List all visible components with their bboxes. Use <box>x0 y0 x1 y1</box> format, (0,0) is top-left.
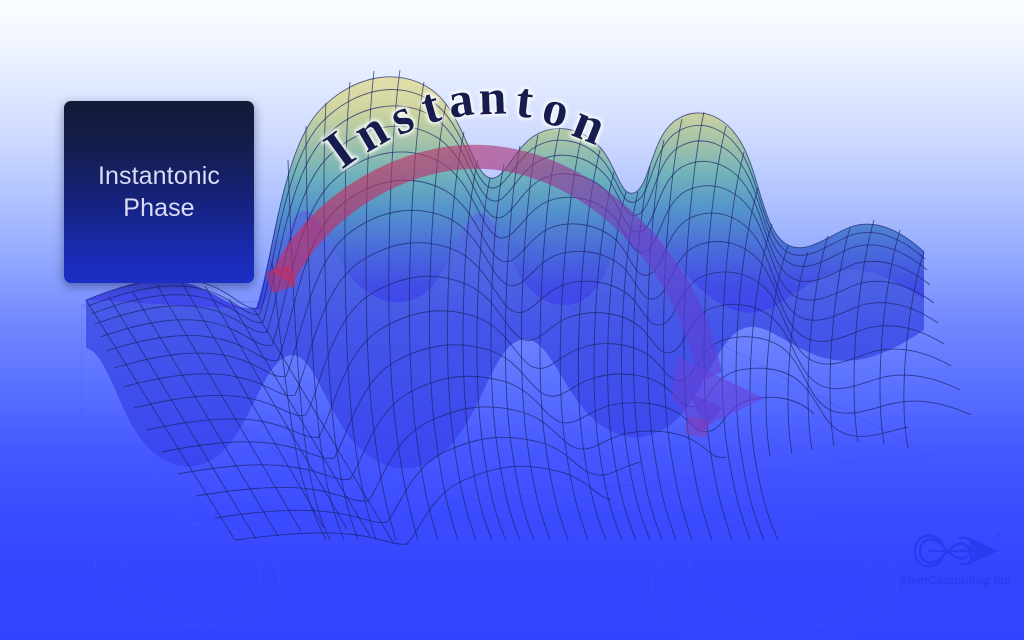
instantonic-phase-card: Instantonic Phase <box>64 101 254 283</box>
memcomputing-logo-text: MemComputing Inc <box>900 575 1012 587</box>
memcomputing-logo: ® MemComputing Inc <box>900 528 1012 600</box>
title-letter: n <box>478 69 508 126</box>
instantonic-phase-label: Instantonic Phase <box>98 160 220 224</box>
title-letter: n <box>565 93 613 157</box>
arrow-end-marker <box>685 416 710 438</box>
title-letter: t <box>514 71 537 128</box>
surface-plot-scene: I n s t a n t o n <box>0 0 1024 640</box>
svg-text:®: ® <box>996 532 1000 539</box>
memcomputing-mark-icon: ® <box>910 528 1002 574</box>
instanton-visualization: I n s t a n t o n Instantonic Phase <box>0 0 1024 640</box>
